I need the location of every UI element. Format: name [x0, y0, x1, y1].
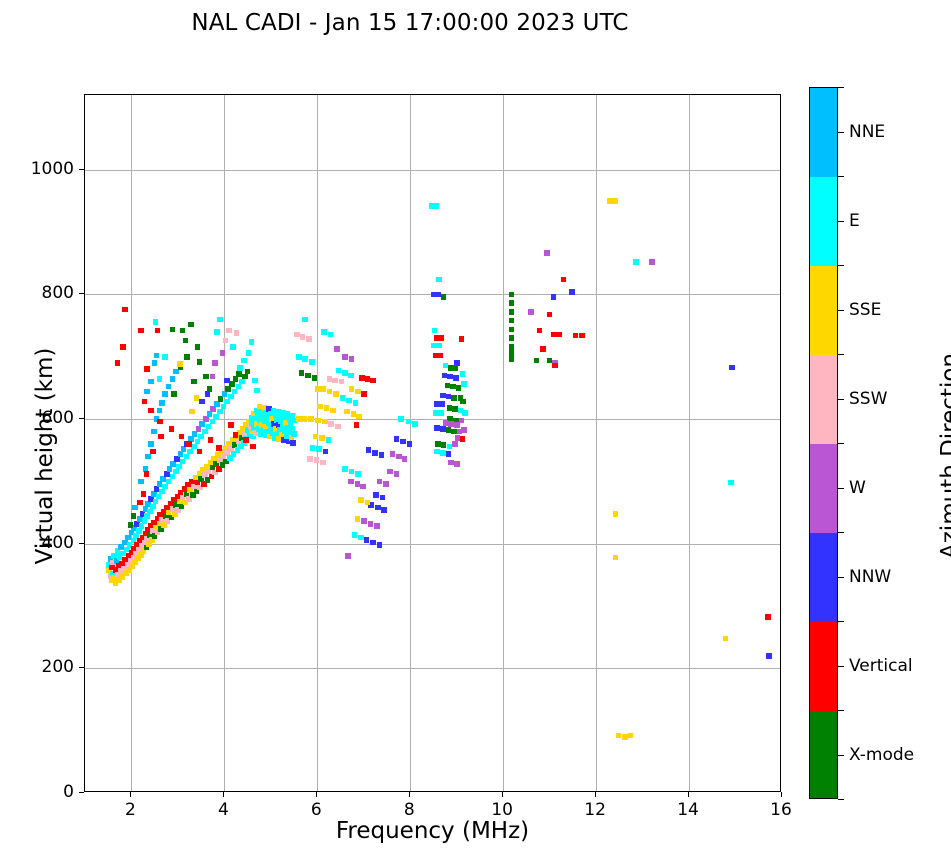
data-point [438, 410, 444, 416]
data-point [197, 449, 203, 455]
data-point [120, 344, 126, 350]
data-point [199, 399, 205, 405]
colorbar-segment-w[interactable] [810, 444, 837, 533]
data-point [138, 328, 144, 334]
data-point [766, 653, 772, 659]
data-point [326, 437, 332, 443]
data-point [346, 398, 352, 404]
data-point [315, 418, 321, 424]
data-point [374, 523, 380, 529]
data-point [170, 376, 176, 382]
data-point [213, 414, 219, 420]
data-point [319, 435, 325, 441]
colorbar-boundary-tick [838, 532, 844, 533]
data-point [394, 436, 400, 442]
data-point [230, 344, 236, 350]
data-point [156, 494, 162, 500]
data-point [151, 429, 157, 435]
data-point [191, 379, 197, 385]
colorbar-boundary-tick [838, 443, 844, 444]
data-point [366, 447, 372, 453]
data-point [377, 479, 383, 485]
data-point [349, 356, 355, 362]
data-point [729, 365, 735, 371]
data-point [245, 369, 251, 375]
data-point [306, 336, 312, 342]
colorbar-label-e: E [849, 211, 860, 231]
colorbar[interactable] [809, 87, 838, 799]
data-point [169, 426, 175, 432]
data-point [432, 328, 438, 334]
y-tick-label: 0 [22, 782, 74, 802]
colorbar-tick-mark [838, 755, 844, 756]
data-point [361, 391, 367, 397]
data-point [291, 431, 297, 437]
data-point [380, 495, 386, 501]
data-point [186, 441, 192, 447]
data-point [189, 409, 195, 415]
data-point [242, 374, 248, 380]
data-point [613, 198, 619, 204]
data-point [335, 424, 341, 430]
data-point [214, 401, 220, 407]
data-point [509, 300, 515, 306]
data-point [198, 434, 204, 440]
data-point [139, 523, 145, 529]
gridline-vertical [224, 95, 225, 791]
data-point [252, 378, 258, 384]
data-point [181, 446, 187, 452]
data-point [195, 344, 201, 350]
data-point [150, 504, 156, 510]
data-point [170, 474, 176, 480]
data-point [214, 329, 220, 335]
data-point [368, 521, 374, 527]
data-point [144, 513, 150, 519]
data-point [547, 312, 553, 318]
colorbar-segment-x-mode[interactable] [810, 711, 837, 799]
data-point [321, 329, 327, 335]
data-point [406, 419, 412, 425]
data-point [144, 366, 150, 372]
data-point [334, 346, 340, 352]
data-point [302, 356, 308, 362]
data-point [446, 451, 452, 457]
data-point [509, 356, 515, 362]
y-axis-label: Virtual height (km) [32, 306, 58, 606]
x-tick-label: 2 [125, 800, 136, 820]
data-point [141, 491, 147, 497]
colorbar-boundary-tick [838, 354, 844, 355]
x-tick-label: 10 [491, 800, 513, 820]
colorbar-boundary-tick [838, 799, 844, 800]
data-point [723, 636, 729, 642]
x-tick-mark [781, 792, 782, 797]
data-point [136, 528, 142, 534]
data-point [300, 334, 306, 340]
data-point [649, 259, 655, 265]
data-point [552, 363, 558, 369]
data-point [167, 466, 173, 472]
data-point [228, 422, 234, 428]
data-point [348, 373, 354, 379]
colorbar-tick-mark [838, 666, 844, 667]
data-point [459, 336, 465, 342]
data-point [155, 328, 161, 334]
data-point [212, 360, 218, 366]
data-point [461, 427, 467, 433]
data-point [345, 553, 351, 559]
data-point [314, 457, 320, 463]
y-tick-mark [79, 667, 84, 668]
data-point [145, 454, 151, 460]
data-point [323, 449, 329, 455]
data-point [509, 344, 515, 350]
data-point [217, 409, 223, 415]
data-point [171, 391, 177, 397]
colorbar-label-nne: NNE [849, 122, 885, 142]
data-point [360, 484, 366, 490]
data-point [153, 319, 159, 325]
data-point [302, 416, 308, 422]
colorbar-boundary-tick [838, 621, 844, 622]
data-point [184, 354, 190, 360]
colorbar-segment-ssw[interactable] [810, 355, 837, 444]
x-tick-mark [595, 792, 596, 797]
data-point [313, 434, 319, 440]
data-point [355, 516, 361, 522]
data-point [132, 505, 138, 511]
data-point [241, 358, 247, 364]
data-point [309, 359, 315, 365]
data-point [349, 469, 355, 475]
data-point [147, 509, 153, 515]
data-point [162, 354, 168, 360]
data-point [206, 424, 212, 430]
data-point [509, 309, 515, 315]
data-point [320, 386, 326, 392]
data-point [207, 411, 213, 417]
data-point [436, 277, 442, 283]
data-point [327, 389, 333, 395]
data-point [633, 259, 639, 265]
gridline-vertical [503, 95, 504, 791]
y-tick-mark [79, 792, 84, 793]
colorbar-label-nnw: NNW [849, 567, 891, 587]
data-point [556, 332, 562, 338]
y-tick-mark [79, 293, 84, 294]
data-point [537, 328, 543, 334]
colorbar-segment-e[interactable] [810, 177, 837, 266]
data-point [628, 733, 634, 739]
data-point [439, 401, 445, 407]
colorbar-tick-mark [838, 310, 844, 311]
data-point [138, 479, 144, 485]
data-point [176, 464, 182, 470]
data-point [460, 399, 466, 405]
data-point [307, 456, 313, 462]
data-point [317, 404, 323, 410]
data-point [441, 294, 447, 300]
data-point [144, 389, 150, 395]
colorbar-boundary-tick [838, 87, 844, 88]
data-point [381, 507, 387, 513]
gridline-vertical [689, 95, 690, 791]
data-point [224, 399, 230, 405]
data-point [373, 492, 379, 498]
data-point [328, 421, 334, 427]
data-point [509, 335, 515, 341]
data-point [299, 370, 305, 376]
data-point [170, 327, 176, 333]
data-point [398, 416, 404, 422]
y-tick-label: 1000 [22, 159, 74, 179]
data-point [728, 480, 734, 486]
data-point [148, 379, 154, 385]
data-point [349, 386, 355, 392]
data-point [184, 454, 190, 460]
data-point [131, 513, 137, 519]
data-point [249, 339, 255, 345]
data-point [150, 449, 156, 455]
data-point [462, 410, 468, 416]
page-title: NAL CADI - Jan 15 17:00:00 2023 UTC [0, 10, 820, 36]
data-point [340, 395, 346, 401]
data-point [308, 416, 314, 422]
x-tick-mark [316, 792, 317, 797]
data-point [348, 479, 354, 485]
data-point [316, 446, 322, 452]
data-point [166, 479, 172, 485]
data-point [158, 434, 164, 440]
data-point [361, 518, 367, 524]
y-tick-label: 200 [22, 657, 74, 677]
data-point [509, 292, 515, 298]
data-point [152, 360, 158, 366]
colorbar-tick-mark [838, 399, 844, 400]
y-tick-mark [79, 543, 84, 544]
data-point [305, 373, 311, 379]
data-point [122, 307, 128, 313]
data-point [233, 376, 239, 382]
data-point [356, 414, 362, 420]
colorbar-label-sse: SSE [849, 300, 881, 320]
data-point [551, 294, 557, 300]
data-point [157, 419, 163, 425]
colorbar-segment-sse[interactable] [810, 266, 837, 355]
data-point [370, 540, 376, 546]
data-point [202, 429, 208, 435]
y-tick-mark [79, 169, 84, 170]
data-point [339, 379, 345, 385]
x-tick-mark [688, 792, 689, 797]
data-point [226, 328, 232, 334]
data-point [225, 386, 231, 392]
colorbar-segment-nne[interactable] [810, 88, 837, 177]
data-point [239, 379, 245, 385]
data-point [162, 391, 168, 397]
data-point [434, 203, 440, 209]
data-point [290, 440, 296, 446]
x-tick-label: 8 [404, 800, 415, 820]
data-point [254, 388, 260, 394]
data-point [312, 375, 318, 381]
x-tick-mark [502, 792, 503, 797]
x-tick-mark [223, 792, 224, 797]
data-point [234, 330, 240, 336]
data-point [157, 376, 163, 382]
data-point [328, 332, 334, 338]
colorbar-tick-mark [838, 221, 844, 222]
data-point [372, 450, 378, 456]
data-point [192, 431, 198, 437]
plot-area [84, 94, 781, 792]
gridline-horizontal [85, 668, 780, 669]
data-point [197, 359, 203, 365]
gridline-horizontal [85, 170, 780, 171]
data-point [154, 353, 160, 359]
data-point [438, 335, 444, 341]
data-point [179, 434, 185, 440]
data-point [148, 441, 154, 447]
data-point [509, 318, 515, 324]
data-point [128, 522, 134, 528]
data-point [195, 439, 201, 445]
data-point [142, 518, 148, 524]
data-point [148, 408, 154, 414]
data-point [377, 542, 383, 548]
data-point [379, 452, 385, 458]
data-point [216, 445, 222, 451]
data-point [237, 365, 243, 371]
data-point [310, 445, 316, 451]
data-point [364, 537, 370, 543]
gridline-horizontal [85, 419, 780, 420]
data-point [534, 358, 540, 364]
data-point [454, 461, 460, 467]
data-point [233, 432, 239, 438]
colorbar-label-w: W [849, 478, 866, 498]
data-point [460, 436, 466, 442]
colorbar-boundary-tick [838, 710, 844, 711]
data-point [370, 378, 376, 384]
data-point [220, 350, 226, 356]
data-point [228, 394, 234, 400]
data-point [222, 391, 228, 397]
colorbar-label-x-mode: X-mode [849, 745, 914, 765]
data-point [180, 459, 186, 465]
data-point [509, 327, 515, 333]
data-point [352, 532, 358, 538]
data-point [210, 374, 216, 380]
data-point [400, 439, 406, 445]
data-point [162, 484, 168, 490]
data-point [115, 360, 121, 366]
data-point [394, 471, 400, 477]
data-point [613, 555, 619, 561]
data-point [616, 733, 622, 739]
data-point [205, 391, 211, 397]
data-point [452, 441, 458, 447]
data-point [208, 437, 214, 443]
data-point [454, 422, 460, 428]
data-point [142, 399, 148, 405]
x-tick-label: 14 [677, 800, 699, 820]
data-point [210, 419, 216, 425]
data-point [157, 408, 163, 414]
data-point [336, 368, 342, 374]
data-point [203, 374, 209, 380]
x-tick-mark [130, 792, 131, 797]
data-point [218, 396, 224, 402]
x-tick-mark [409, 792, 410, 797]
data-point [765, 614, 771, 620]
data-point [203, 416, 209, 422]
x-tick-label: 6 [311, 800, 322, 820]
gridline-horizontal [85, 544, 780, 545]
x-tick-label: 16 [770, 800, 792, 820]
data-point [177, 361, 183, 367]
data-point [221, 404, 227, 410]
data-point [573, 333, 579, 339]
data-point [509, 350, 515, 356]
y-tick-mark [79, 418, 84, 419]
data-point [354, 422, 360, 428]
data-point [232, 389, 238, 395]
data-point [173, 469, 179, 475]
data-point [460, 371, 466, 377]
data-point [153, 499, 159, 505]
data-point [159, 489, 165, 495]
data-point [544, 250, 550, 256]
data-point [402, 456, 408, 462]
data-point [613, 511, 619, 517]
gridline-vertical [317, 95, 318, 791]
data-point [561, 277, 567, 283]
data-point [183, 338, 189, 344]
x-axis-label: Frequency (MHz) [84, 818, 781, 844]
data-point [540, 346, 546, 352]
data-point [302, 317, 308, 323]
data-point [322, 419, 328, 425]
data-point [528, 309, 534, 315]
data-point [332, 378, 338, 384]
data-point [342, 354, 348, 360]
data-point [187, 449, 193, 455]
data-point [358, 497, 364, 503]
data-point [159, 400, 165, 406]
colorbar-segment-nnw[interactable] [810, 533, 837, 622]
colorbar-segment-vertical[interactable] [810, 622, 837, 711]
data-point [437, 353, 443, 359]
data-point [320, 460, 326, 466]
data-point [324, 405, 330, 411]
colorbar-tick-mark [838, 132, 844, 133]
gridline-vertical [596, 95, 597, 791]
x-tick-label: 4 [218, 800, 229, 820]
colorbar-tick-mark [838, 488, 844, 489]
data-point [223, 338, 229, 344]
data-point [383, 481, 389, 487]
colorbar-label-ssw: SSW [849, 389, 887, 409]
data-point [236, 384, 242, 390]
data-point [461, 381, 467, 387]
y-tick-label: 800 [22, 283, 74, 303]
data-point [452, 365, 458, 371]
gridline-vertical [131, 95, 132, 791]
data-point [210, 406, 216, 412]
data-point [224, 378, 230, 384]
